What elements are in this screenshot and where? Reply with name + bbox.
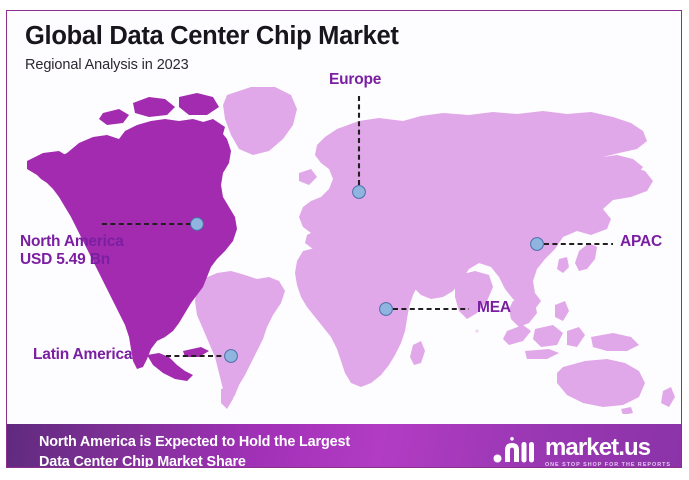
callout-europe-label: Europe — [329, 71, 381, 88]
header: Global Data Center Chip Market Regional … — [25, 23, 399, 73]
callout-apac-label: APAC — [620, 233, 662, 250]
footer-headline-line1: North America is Expected to Hold the La… — [39, 434, 350, 450]
region-ireland — [315, 202, 323, 211]
callout-north-america-value: USD 5.49 Bn — [20, 251, 124, 269]
region-cuba — [183, 347, 209, 357]
callout-north-america-label: North America — [20, 233, 124, 250]
map-landmasses — [27, 87, 675, 414]
region-canada-arctic-3 — [99, 109, 129, 125]
region-japan — [575, 243, 597, 271]
logo-text-block: market.us ONE STOP SHOP FOR THE REPORTS — [545, 436, 671, 468]
footer-banner: North America is Expected to Hold the La… — [7, 424, 682, 468]
region-iceland — [299, 169, 317, 185]
market-us-bars-icon — [493, 437, 537, 467]
callout-mea: MEA — [477, 299, 511, 317]
callout-latin-america: Latin America — [33, 346, 132, 364]
page-title: Global Data Center Chip Market — [25, 23, 399, 50]
callout-europe: Europe — [329, 71, 381, 89]
region-korea-peninsula — [557, 257, 569, 273]
logo-wordmark: market.us — [545, 436, 671, 460]
market-us-logo[interactable]: market.us ONE STOP SHOP FOR THE REPORTS — [493, 436, 671, 468]
page-subtitle: Regional Analysis in 2023 — [25, 57, 399, 73]
region-canada-arctic-1 — [133, 97, 175, 117]
region-africa — [295, 247, 421, 387]
infographic-card: Global Data Center Chip Market Regional … — [6, 10, 682, 468]
region-madagascar — [410, 341, 425, 365]
region-tasmania — [621, 407, 633, 414]
region-sulawesi — [567, 327, 585, 347]
region-new-zealand — [661, 387, 675, 407]
callout-north-america: North America USD 5.49 Bn — [20, 233, 124, 270]
callout-latin-america-label: Latin America — [33, 346, 132, 363]
footer-headline-line2: Data Center Chip Market Share — [39, 453, 350, 468]
infographic-root: Global Data Center Chip Market Regional … — [0, 0, 689, 480]
region-south-america-detail — [221, 387, 233, 409]
region-south-america — [195, 271, 285, 405]
region-borneo — [533, 325, 563, 347]
region-canada-arctic-2 — [179, 93, 219, 115]
region-greenland — [223, 87, 297, 155]
logo-tagline: ONE STOP SHOP FOR THE REPORTS — [545, 463, 671, 468]
callout-mea-label: MEA — [477, 299, 511, 316]
footer-headline: North America is Expected to Hold the La… — [39, 433, 350, 468]
region-australia — [557, 359, 645, 407]
region-sumatra — [503, 325, 531, 345]
region-java — [525, 349, 559, 359]
region-central-america — [147, 353, 193, 381]
callout-apac: APAC — [620, 233, 662, 251]
region-philippines — [555, 301, 569, 321]
region-new-guinea — [591, 333, 639, 351]
